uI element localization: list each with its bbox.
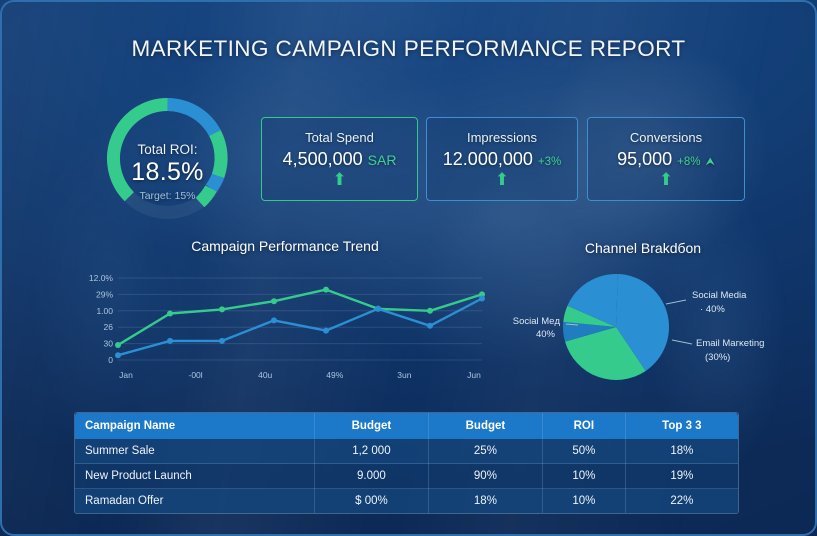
table-cell: $ 00%	[314, 489, 428, 514]
data-point-marker	[323, 328, 329, 334]
table-column-header[interactable]: Budget	[428, 413, 542, 439]
kpi-delta: +8%	[677, 156, 700, 168]
kpi-title: Total Spend	[305, 130, 374, 145]
kpi-value: 95,000	[617, 149, 672, 170]
table-cell: 9.000	[314, 464, 428, 489]
pie-label-left-name: Social Meд	[513, 316, 561, 327]
table-column-header[interactable]: ROI	[542, 413, 625, 439]
pie-leader-line-bottom-right	[672, 340, 692, 344]
data-point-marker	[427, 323, 433, 329]
data-point-marker	[427, 308, 433, 314]
line-series-series-green	[118, 290, 482, 345]
x-tick-label: Jan	[119, 370, 133, 380]
table-cell: 10%	[542, 464, 625, 489]
table-column-header[interactable]: Campaign Name	[75, 413, 314, 439]
table-cell: Ramadan Offer	[75, 489, 314, 514]
pie-label-social-media-value: · 40%	[700, 304, 725, 315]
data-point-marker	[323, 287, 329, 293]
table-column-header[interactable]: Top 3 3	[625, 413, 738, 439]
table-cell: 19%	[625, 464, 738, 489]
pie-leader-line-top-right	[666, 300, 686, 304]
table-body: Summer Sale1,2 00025%50%18%New Product L…	[75, 439, 738, 513]
x-tick-label: 40u	[258, 370, 272, 380]
line-chart-title: Campaign Performance Trend	[85, 238, 485, 254]
y-axis-tick-labels: 12.0%29%1.0026300	[89, 273, 114, 365]
x-tick-label: -00l	[189, 370, 203, 380]
data-point-marker	[219, 306, 225, 312]
data-point-marker	[115, 342, 121, 348]
table-row[interactable]: Ramadan Offer$ 00%18%10%22%	[75, 489, 738, 514]
table-cell: Summer Sale	[75, 439, 314, 464]
campaign-performance-line-chart: 12.0%29%1.0026300 Jan-00l40u49%3unJun	[78, 268, 490, 386]
gauge-value: 18.5%	[101, 158, 234, 187]
pie-label-social-media-name: Social Media	[692, 290, 747, 301]
table-row[interactable]: Summer Sale1,2 00025%50%18%	[75, 439, 738, 464]
kpi-card-total-spend[interactable]: Total Spend 4,500,000 SAR ⬆	[261, 117, 418, 201]
table-cell: 25%	[428, 439, 542, 464]
kpi-value: 12.000,000	[443, 149, 533, 170]
page-title: MARKETING CAMPAIGN PERFORMANCE REPORT	[0, 36, 817, 62]
channel-breakdown-pie-chart: Social Meд 40% Social Media · 40% Email …	[500, 262, 800, 392]
table-header-row: Campaign NameBudgetBudgetROITop 3 3	[75, 413, 738, 439]
kpi-title: Impressions	[467, 130, 537, 145]
kpi-unit: SAR	[368, 152, 397, 168]
campaign-performance-table: Campaign NameBudgetBudgetROITop 3 3 Summ…	[74, 412, 739, 514]
data-point-marker	[167, 311, 173, 317]
x-tick-label: 49%	[326, 370, 343, 380]
x-tick-label: Jun	[467, 370, 481, 380]
table-cell: 18%	[428, 489, 542, 514]
pie-label-email-marketing-value: (30%)	[705, 352, 730, 363]
kpi-title: Conversions	[630, 130, 702, 145]
y-tick-label: 12.0%	[89, 273, 114, 283]
gauge-label: Total ROI:	[101, 142, 234, 157]
pie-chart-title: Channel Brakdбon	[498, 240, 788, 256]
y-tick-label: 30	[104, 339, 114, 349]
kpi-value: 4,500,000	[283, 149, 363, 170]
table-cell: New Product Launch	[75, 464, 314, 489]
table-row[interactable]: New Product Launch9.00090%10%19%	[75, 464, 738, 489]
table-column-header[interactable]: Budget	[314, 413, 428, 439]
table-cell: 22%	[625, 489, 738, 514]
x-tick-label: 3un	[397, 370, 411, 380]
pie-slices-group	[563, 274, 669, 380]
data-point-marker	[271, 298, 277, 304]
chart-gridlines	[118, 278, 482, 360]
x-axis-tick-labels: Jan-00l40u49%3unJun	[119, 370, 481, 380]
data-point-marker	[167, 338, 173, 344]
y-tick-label: 0	[108, 355, 113, 365]
small-trend-arrow-icon: ⮝	[706, 156, 715, 169]
kpi-delta: +3%	[538, 156, 561, 168]
table-cell: 90%	[428, 464, 542, 489]
table-cell: 1,2 000	[314, 439, 428, 464]
report-slide: MARKETING CAMPAIGN PERFORMANCE REPORT To…	[0, 0, 817, 536]
data-point-marker	[219, 338, 225, 344]
trend-up-arrow-icon: ⬆	[495, 171, 509, 188]
data-point-marker	[115, 352, 121, 358]
total-roi-gauge: Total ROI: 18.5% Target: 15%	[101, 92, 234, 220]
trend-up-arrow-icon: ⬆	[659, 171, 673, 188]
table-cell: 50%	[542, 439, 625, 464]
y-tick-label: 29%	[96, 289, 113, 299]
pie-label-email-marketing-name: Email Maгĸeting	[696, 338, 764, 349]
kpi-card-conversions[interactable]: Conversions 95,000 +8% ⮝ ⬆	[587, 117, 745, 201]
data-point-marker	[271, 317, 277, 323]
table-cell: 10%	[542, 489, 625, 514]
y-tick-label: 26	[104, 322, 114, 332]
kpi-card-impressions[interactable]: Impressions 12.000,000 +3% ⬆	[426, 117, 578, 201]
gauge-target: Target: 15%	[101, 190, 234, 202]
pie-label-left-value: 40%	[536, 329, 556, 340]
trend-up-arrow-icon: ⬆	[332, 171, 346, 188]
table-cell: 18%	[625, 439, 738, 464]
y-tick-label: 1.00	[96, 306, 113, 316]
chart-series-group	[115, 287, 485, 359]
data-point-marker	[479, 296, 485, 302]
data-point-marker	[375, 306, 381, 312]
